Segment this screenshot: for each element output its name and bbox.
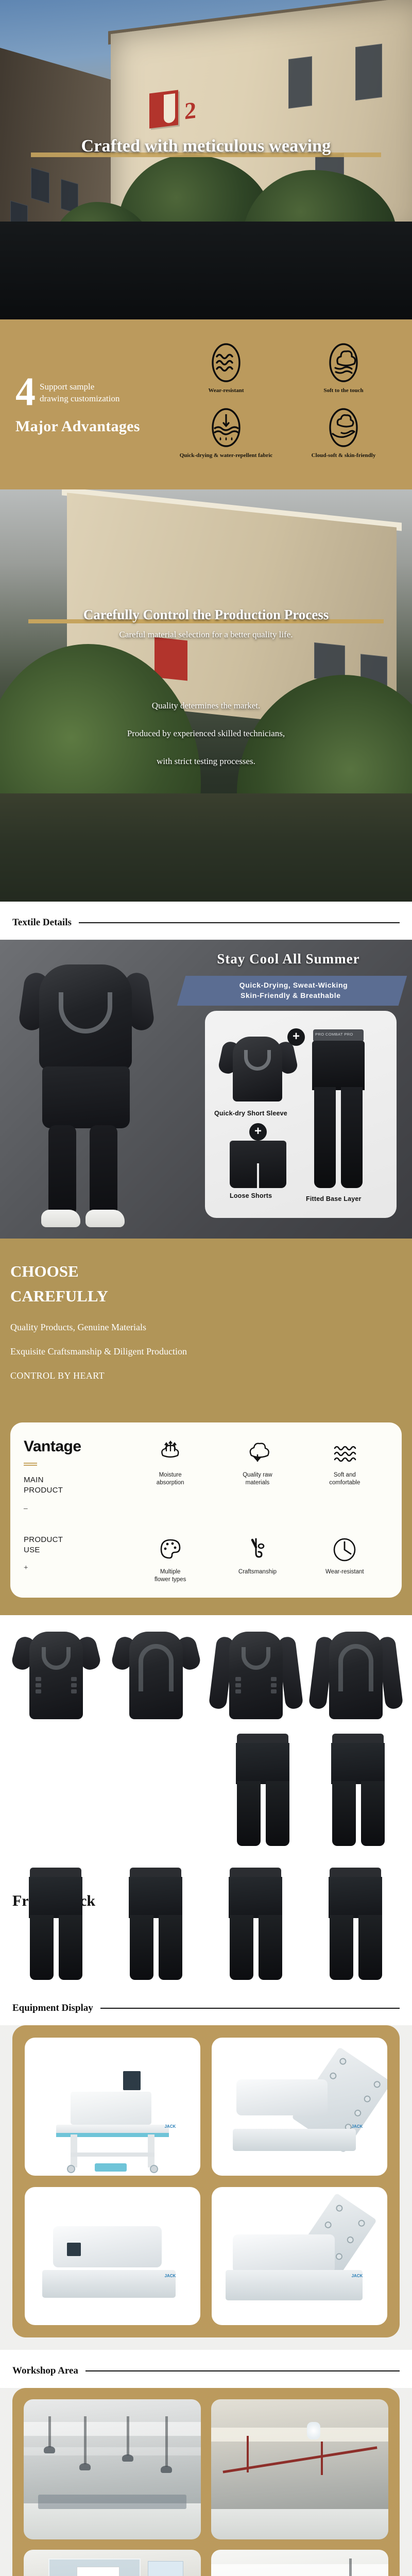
product-use-label: PRODUCT USE xyxy=(24,1535,127,1556)
cloud-hand-icon xyxy=(328,407,359,448)
cotton-plant-icon xyxy=(244,1440,271,1467)
short-sleeve-product-image xyxy=(219,1028,297,1106)
feature-label-line2: absorption xyxy=(143,1479,198,1487)
process-line: with strict testing processes. xyxy=(0,756,412,767)
ceiling-beam xyxy=(211,2428,388,2442)
ceiling-beam xyxy=(211,2564,388,2576)
advantages-icon-grid: Wear-resistant Soft to the touch xyxy=(170,342,412,459)
plus-badge-icon: + xyxy=(287,1028,305,1046)
plus-divider: + xyxy=(24,1564,127,1572)
feature-label: Moisture absorption xyxy=(143,1471,198,1487)
advantage-item: Quick-drying & water-repellent fabric xyxy=(170,407,282,459)
legging-leg-right xyxy=(159,1915,182,1980)
feature-label-line1: Soft and xyxy=(317,1471,372,1479)
divider xyxy=(24,1463,37,1466)
loose-shorts-product-image xyxy=(230,1141,286,1188)
model-leg-right xyxy=(90,1125,117,1216)
side-panel-detail xyxy=(235,1677,277,1700)
feature-label-line1: Multiple xyxy=(143,1568,198,1576)
choose-carefully-section: CHOOSE CAREFULLY Quality Products, Genui… xyxy=(0,1239,412,1405)
workshop-photo xyxy=(211,2399,388,2539)
feature-label-line2: flower types xyxy=(143,1576,198,1584)
workshop-photo xyxy=(24,2399,201,2539)
feature-label-line2: comfortable xyxy=(317,1479,372,1487)
header-rule xyxy=(85,2370,400,2371)
advantage-label: Cloud-soft & skin-friendly xyxy=(287,452,400,459)
caster-wheel xyxy=(150,2165,158,2173)
building-number: 2 xyxy=(184,96,196,125)
moisture-arrows-icon xyxy=(157,1440,184,1467)
short-sleeve-back xyxy=(113,1623,199,1726)
pants-row xyxy=(0,1730,412,1858)
product-label: Loose Shorts xyxy=(230,1192,272,1199)
main-product-line1: MAIN xyxy=(24,1475,127,1485)
pendant-lamp xyxy=(349,2558,352,2576)
header-rule xyxy=(79,922,400,923)
advantage-label: Wear-resistant xyxy=(170,387,282,394)
legging-hip xyxy=(129,1877,182,1918)
stay-cool-section: Stay Cool All Summer Quick-Drying, Sweat… xyxy=(0,940,412,1239)
short-sleeve-front xyxy=(13,1623,99,1726)
coverstitch-machine: JACK xyxy=(212,2038,387,2176)
machine-base xyxy=(42,2270,176,2298)
machine-arm xyxy=(233,2234,335,2273)
company-logo-mark xyxy=(149,90,178,129)
equipment-display-header: Equipment Display xyxy=(0,1987,412,2025)
waistband xyxy=(313,1029,364,1042)
legging-leg-right xyxy=(358,1915,382,1980)
model-shoe-right xyxy=(85,1210,125,1227)
shorts-body xyxy=(230,1141,286,1188)
feature-label-line1: Wear-resistant xyxy=(317,1568,372,1576)
textile-details-header: Textile Details xyxy=(0,902,412,940)
table-leg xyxy=(148,2134,155,2167)
notice-board xyxy=(148,2561,183,2576)
pendant-lamp xyxy=(48,2416,51,2447)
main-product-label: MAIN PRODUCT xyxy=(24,1475,127,1496)
process-statements: Quality determines the market. Produced … xyxy=(0,701,412,784)
feature-label: Soft and comfortable xyxy=(317,1471,372,1487)
shirt-row xyxy=(0,1623,412,1726)
feature-ribbon: Quick-Drying, Sweat-Wicking Skin-Friendl… xyxy=(177,976,407,1006)
section-title: Textile Details xyxy=(12,917,72,928)
legging-hip xyxy=(29,1877,82,1918)
pants-leg-left xyxy=(332,1781,356,1846)
legging-hip xyxy=(329,1877,382,1918)
pants-leg-left xyxy=(237,1781,261,1846)
legging-leg-left xyxy=(314,1087,336,1188)
legging-front-1 xyxy=(18,1863,95,1982)
feature-item: Quality raw materials xyxy=(230,1440,285,1487)
model-photo xyxy=(9,952,164,1230)
pants-hip xyxy=(331,1743,385,1784)
feature-label: Multiple flower types xyxy=(143,1568,198,1584)
base-layer-product-image xyxy=(306,1029,371,1190)
model-shorts xyxy=(42,1066,130,1128)
dash-divider: – xyxy=(24,1504,127,1513)
wave-lines-icon xyxy=(331,1440,358,1467)
machine-brand-label: JACK xyxy=(351,2274,363,2278)
sprinkler-riser xyxy=(247,2436,249,2472)
section-title: Equipment Display xyxy=(12,2003,93,2014)
advantage-label: Quick-drying & water-repellent fabric xyxy=(170,452,282,459)
vantage-card: Vantage MAIN PRODUCT – xyxy=(10,1422,402,1598)
legging-leg-right xyxy=(59,1915,82,1980)
workshop-photo xyxy=(211,2550,388,2576)
equipment-grid: JACK JACK xyxy=(25,2038,387,2325)
choose-points: Quality Products, Genuine Materials Exqu… xyxy=(0,1322,412,1357)
choose-title-line2: CAREFULLY xyxy=(10,1284,412,1309)
legging-leg-left xyxy=(30,1915,54,1980)
advantages-subtitle-line2: drawing customization xyxy=(40,393,119,405)
legging-back-2 xyxy=(317,1863,394,1982)
vantage-features-row2: Multiple flower types Craftsmanship xyxy=(127,1535,388,1584)
vantage-features-row1: Moisture absorption Quality raw material… xyxy=(127,1438,388,1487)
advantage-item: Cloud-soft & skin-friendly xyxy=(287,407,400,459)
clock-icon xyxy=(331,1537,358,1564)
legging-hip xyxy=(312,1041,365,1090)
waistband xyxy=(130,1868,181,1878)
advantages-count: 4 xyxy=(15,376,36,408)
advantages-section: 4 Support sample drawing customization M… xyxy=(0,319,412,489)
vantage-row-product-use: PRODUCT USE + Multiple fl xyxy=(24,1535,388,1584)
advantages-subtitle-line1: Support sample xyxy=(40,381,119,393)
equipment-photo: JACK xyxy=(25,2038,200,2176)
feature-label-line1: Moisture xyxy=(143,1471,198,1479)
choose-title: CHOOSE CAREFULLY xyxy=(0,1259,412,1309)
feature-item: Wear-resistant xyxy=(317,1537,372,1584)
advantages-heading: Major Advantages xyxy=(15,418,170,435)
legging-front-2 xyxy=(217,1863,295,1982)
pants-back xyxy=(320,1730,397,1848)
vantage-left-column: Vantage MAIN PRODUCT – xyxy=(24,1438,127,1521)
leggings-row xyxy=(0,1863,412,1982)
legging-leg-right xyxy=(341,1087,363,1188)
vantage-card-section: Vantage MAIN PRODUCT – xyxy=(0,1405,412,1615)
model-shoe-left xyxy=(41,1210,80,1227)
pendant-lamp xyxy=(165,2416,168,2467)
legging-leg-left xyxy=(230,1915,253,1980)
needle-thread-icon xyxy=(244,1537,271,1564)
model-leg-left xyxy=(48,1125,76,1216)
sewing-line-bench xyxy=(38,2495,187,2509)
workshop-floor xyxy=(211,2509,388,2540)
feature-item: Multiple flower types xyxy=(143,1537,198,1584)
legging-hip xyxy=(229,1877,282,1918)
process-subtitle: Careful material selection for a better … xyxy=(0,630,412,640)
control-by-heart-text: CONTROL BY HEART xyxy=(0,1370,412,1381)
feature-label: Craftsmanship xyxy=(230,1568,285,1576)
equipment-photo: JACK xyxy=(25,2187,200,2325)
back-panel-detail xyxy=(139,1644,174,1691)
shirt-body xyxy=(229,1632,283,1719)
waistband xyxy=(237,1734,288,1744)
legging-leg-left xyxy=(130,1915,153,1980)
feature-item: Moisture absorption xyxy=(143,1440,198,1487)
process-line: Quality determines the market. xyxy=(0,701,412,711)
stay-cool-title: Stay Cool All Summer xyxy=(170,951,407,967)
brand-name: Vantage xyxy=(24,1438,127,1455)
vantage-left-column-2: PRODUCT USE + xyxy=(24,1535,127,1581)
pendant-lamp xyxy=(84,2416,87,2464)
caster-wheel xyxy=(67,2165,75,2173)
hero-title: Crafted with meticulous weaving xyxy=(0,137,412,156)
signboard xyxy=(77,2567,119,2576)
overlock-machine: JACK xyxy=(25,2187,200,2325)
pants-leg-right xyxy=(361,1781,385,1846)
feature-label: Wear-resistant xyxy=(317,1568,372,1576)
pants-front xyxy=(225,1730,302,1848)
workshop-panel xyxy=(12,2388,400,2576)
window xyxy=(31,167,49,204)
main-product-line2: PRODUCT xyxy=(24,1485,127,1496)
company-logo-mark xyxy=(154,637,187,681)
advantage-item: Wear-resistant xyxy=(170,342,282,394)
control-panel xyxy=(123,2071,141,2091)
ribbon-line2: Skin-Friendly & Breathable xyxy=(180,990,401,1001)
sprinkler-riser xyxy=(321,2442,323,2475)
workshop-photo xyxy=(24,2550,201,2576)
back-panel-detail xyxy=(338,1644,373,1691)
front-back-gallery: Front / Back xyxy=(0,1615,412,1987)
equipment-photo: JACK xyxy=(212,2038,387,2176)
ceiling-light xyxy=(307,2422,320,2439)
equipment-photo: JACK xyxy=(212,2187,387,2325)
pants-leg-right xyxy=(266,1781,289,1846)
long-sleeve-back xyxy=(313,1623,399,1726)
long-sleeve-front xyxy=(213,1623,299,1726)
product-combo-card: Quick-dry Short Sleeve + + Fitted Base L… xyxy=(205,1011,397,1218)
equipment-panel: JACK JACK xyxy=(12,2025,400,2337)
hero-banner: 2 Crafted with meticulous weaving xyxy=(0,0,412,319)
waistband xyxy=(30,1868,81,1878)
legging-back-1 xyxy=(117,1863,195,1982)
choose-point: Quality Products, Genuine Materials xyxy=(10,1322,412,1333)
feature-item: Craftsmanship xyxy=(230,1537,285,1584)
workshop-grid xyxy=(24,2399,388,2576)
advantage-label: Soft to the touch xyxy=(287,387,400,394)
feature-label-line1: Craftsmanship xyxy=(230,1568,285,1576)
product-label: Fitted Base Layer xyxy=(306,1195,362,1202)
side-panel-detail xyxy=(36,1677,77,1700)
table-crossbar xyxy=(71,2153,155,2157)
process-line: Produced by experienced skilled technici… xyxy=(0,728,412,739)
legging-leg-right xyxy=(259,1915,282,1980)
industrial-overlock-machine: JACK xyxy=(212,2187,387,2325)
feature-label-line2: materials xyxy=(230,1479,285,1487)
palette-icon xyxy=(157,1537,184,1564)
machine-base xyxy=(233,2129,356,2151)
workshop-area-header: Workshop Area xyxy=(0,2350,412,2388)
window xyxy=(288,56,312,109)
pants-hip xyxy=(236,1743,289,1784)
waistband xyxy=(332,1734,384,1744)
process-title: Carefully Control the Production Process xyxy=(0,607,412,623)
machine-brand-label: JACK xyxy=(351,2124,363,2129)
product-use-line1: PRODUCT xyxy=(24,1535,127,1545)
equipment-section: JACK JACK xyxy=(0,2025,412,2350)
waistband xyxy=(330,1868,381,1878)
pendant-lamp xyxy=(127,2416,129,2455)
vantage-row-main-product: Vantage MAIN PRODUCT – xyxy=(24,1438,388,1521)
tension-dial xyxy=(67,2243,81,2257)
feature-item: Soft and comfortable xyxy=(317,1440,372,1487)
machine-head xyxy=(71,2092,151,2125)
ground-pavement xyxy=(0,222,412,319)
pond-water xyxy=(0,793,412,902)
production-process-banner: Carefully Control the Production Process… xyxy=(0,489,412,902)
product-label: Quick-dry Short Sleeve xyxy=(214,1110,287,1117)
choose-point: Exquisite Craftsmanship & Diligent Produ… xyxy=(10,1346,412,1357)
foot-pedal xyxy=(95,2163,126,2172)
product-use-line2: USE xyxy=(24,1545,127,1555)
machine-brand-label: JACK xyxy=(164,2274,176,2278)
table-leg xyxy=(71,2134,78,2167)
sprinkler-pipe xyxy=(222,2446,377,2473)
window xyxy=(355,44,382,100)
plus-badge-icon: + xyxy=(249,1123,267,1141)
legging-leg-left xyxy=(330,1915,353,1980)
feature-label-line1: Quality raw xyxy=(230,1471,285,1479)
choose-title-line1: CHOOSE xyxy=(10,1259,412,1284)
cotton-boll-icon xyxy=(328,342,359,383)
ribbon-line1: Quick-Drying, Sweat-Wicking xyxy=(183,980,404,990)
feature-label: Quality raw materials xyxy=(230,1471,285,1487)
product-detail-page: 2 Crafted with meticulous weaving 4 Supp… xyxy=(0,0,412,2576)
header-rule xyxy=(100,2008,400,2009)
workshop-section xyxy=(0,2388,412,2576)
water-droplet-arrow-icon xyxy=(210,407,242,448)
machine-base xyxy=(226,2270,363,2300)
machine-brand-label: JACK xyxy=(164,2124,176,2129)
advantage-item: Soft to the touch xyxy=(287,342,400,394)
machine-arm xyxy=(236,2079,328,2115)
button-attaching-machine: JACK xyxy=(25,2038,200,2176)
waistband xyxy=(230,1868,281,1878)
section-title: Workshop Area xyxy=(12,2365,78,2377)
wave-lines-icon xyxy=(210,342,242,383)
advantages-heading-block: 4 Support sample drawing customization M… xyxy=(0,342,170,459)
shirt-body xyxy=(29,1632,83,1719)
